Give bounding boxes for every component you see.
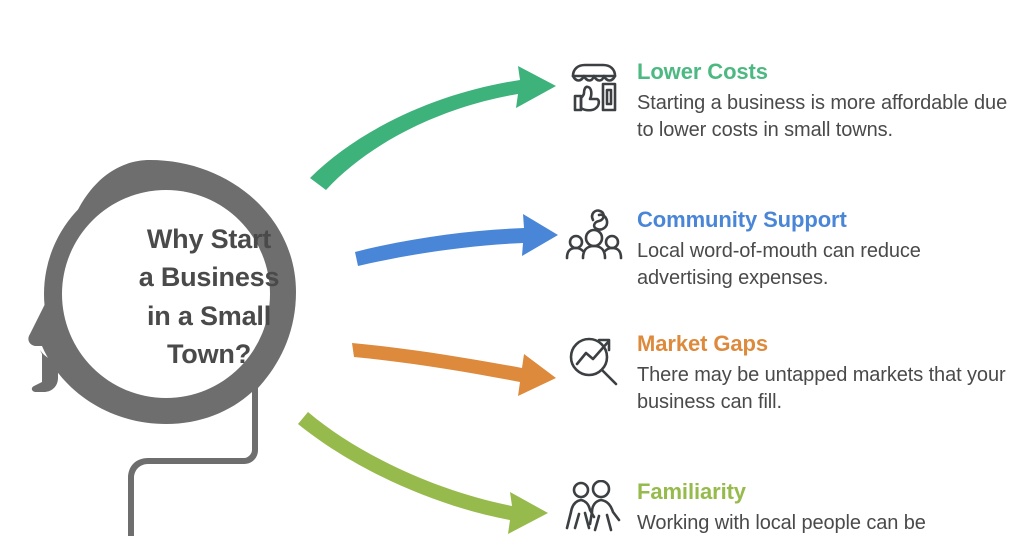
item-body: Lower Costs Starting a business is more … (637, 60, 1015, 145)
list-item: Lower Costs Starting a business is more … (563, 60, 1015, 145)
page-title: Why Start a Business in a Small Town? (98, 220, 320, 373)
list-item: Community Support Local word-of-mouth ca… (563, 208, 1015, 293)
two-people-walking-icon (563, 480, 625, 536)
arrow-market-gaps (352, 343, 556, 396)
item-body: Market Gaps There may be untapped market… (637, 332, 1015, 417)
item-title: Familiarity (637, 480, 1015, 504)
item-title: Market Gaps (637, 332, 1015, 356)
question-line-1: Why Start (98, 220, 320, 258)
question-line-2: a Business (98, 258, 320, 296)
question-line-3: in a Small (98, 297, 320, 335)
arrow-lower-costs (310, 66, 556, 190)
item-title: Community Support (637, 208, 1015, 232)
question-line-4: Town? (98, 335, 320, 373)
item-description: Working with local people can be (637, 510, 1015, 536)
list-item: Familiarity Working with local people ca… (563, 480, 1015, 536)
storefront-thumbs-up-icon (563, 60, 625, 116)
item-body: Familiarity Working with local people ca… (637, 480, 1015, 536)
people-group-icon (563, 208, 625, 264)
arrow-community-support (355, 214, 558, 266)
central-head-group: Why Start a Business in a Small Town? (0, 150, 340, 536)
item-description: There may be untapped markets that your … (637, 362, 1015, 416)
infographic-canvas: Why Start a Business in a Small Town? (0, 0, 1024, 536)
list-item: Market Gaps There may be untapped market… (563, 332, 1015, 417)
magnifier-trend-icon (563, 332, 625, 388)
item-description: Starting a business is more affordable d… (637, 90, 1015, 144)
item-description: Local word-of-mouth can reduce advertisi… (637, 238, 1015, 292)
item-body: Community Support Local word-of-mouth ca… (637, 208, 1015, 293)
item-title: Lower Costs (637, 60, 1015, 84)
